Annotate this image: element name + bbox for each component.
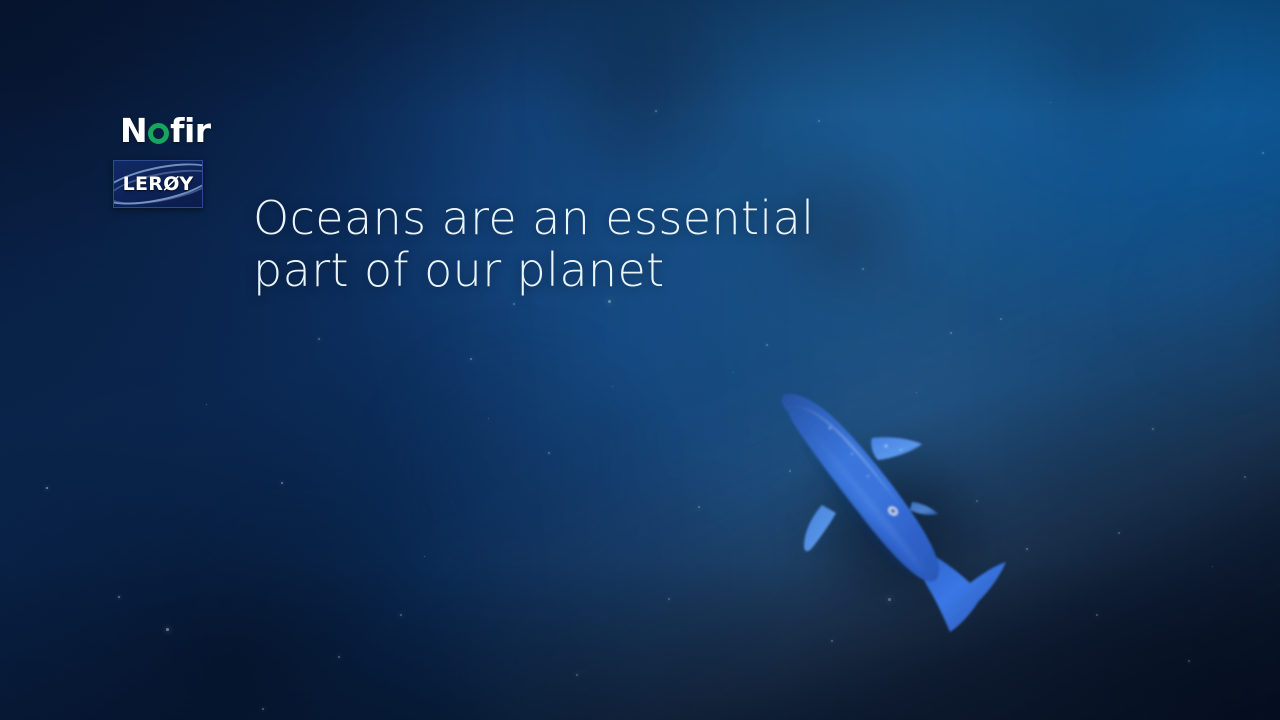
particle (818, 120, 820, 122)
particle (698, 506, 700, 508)
particle (950, 332, 952, 334)
nofir-logo[interactable]: Nfir (113, 112, 263, 148)
particle (612, 386, 613, 387)
particle (46, 487, 48, 489)
slide-canvas: Nfir LERØY Oceans are an essential part … (0, 0, 1280, 720)
particle (166, 628, 169, 631)
particle (1212, 566, 1213, 567)
particle (608, 300, 611, 303)
particle (400, 614, 402, 616)
particle (118, 596, 120, 598)
fish-illustration (760, 380, 1040, 660)
particle (513, 303, 515, 305)
particle (488, 418, 489, 419)
particle (548, 452, 550, 454)
particle (733, 372, 734, 373)
headline-text: Oceans are an essential part of our plan… (253, 193, 814, 297)
particle (1096, 614, 1098, 616)
particle (206, 404, 207, 405)
particle (1244, 476, 1246, 478)
nofir-logo-n: N (120, 114, 147, 147)
nofir-logo-o-ring-icon (148, 123, 169, 144)
particle (1118, 532, 1120, 534)
particle (281, 482, 283, 484)
marine-snow-layer (0, 0, 1280, 720)
particle (1262, 152, 1264, 154)
leroy-logo[interactable]: LERØY (113, 160, 203, 208)
nofir-logo-fir: fir (170, 114, 210, 147)
particle (1000, 318, 1002, 320)
particle (470, 358, 472, 360)
particle (318, 338, 320, 340)
logo-stack: Nfir LERØY (113, 112, 263, 208)
particle (338, 656, 340, 658)
particle (576, 674, 578, 676)
particle (1188, 660, 1190, 662)
particle (1152, 428, 1154, 430)
particle (655, 110, 657, 112)
particle (862, 268, 864, 270)
particle (766, 344, 768, 346)
particle (668, 598, 670, 600)
leroy-logo-text: LERØY (114, 173, 202, 195)
salmon-icon (760, 380, 1040, 660)
particle (262, 708, 264, 710)
particle (1050, 102, 1051, 103)
particle (424, 556, 425, 557)
